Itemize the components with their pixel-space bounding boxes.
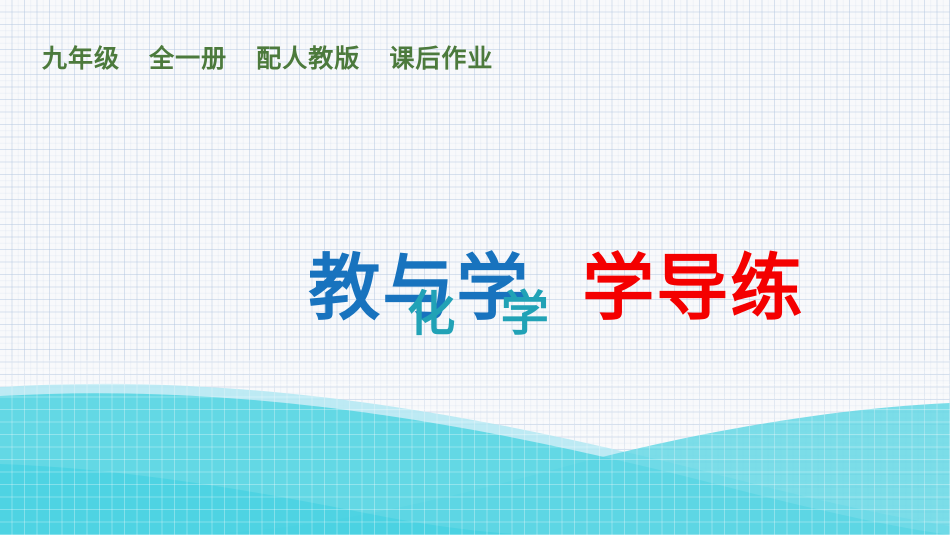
slide-canvas: 九年级 全一册 配人教版 课后作业 教与学学导练 化 学 (0, 0, 950, 535)
header-subtitle: 九年级 全一册 配人教版 课后作业 (42, 46, 493, 71)
subject-title: 化 学 (0, 288, 950, 341)
slide-content: 九年级 全一册 配人教版 课后作业 教与学学导练 化 学 (0, 0, 950, 535)
